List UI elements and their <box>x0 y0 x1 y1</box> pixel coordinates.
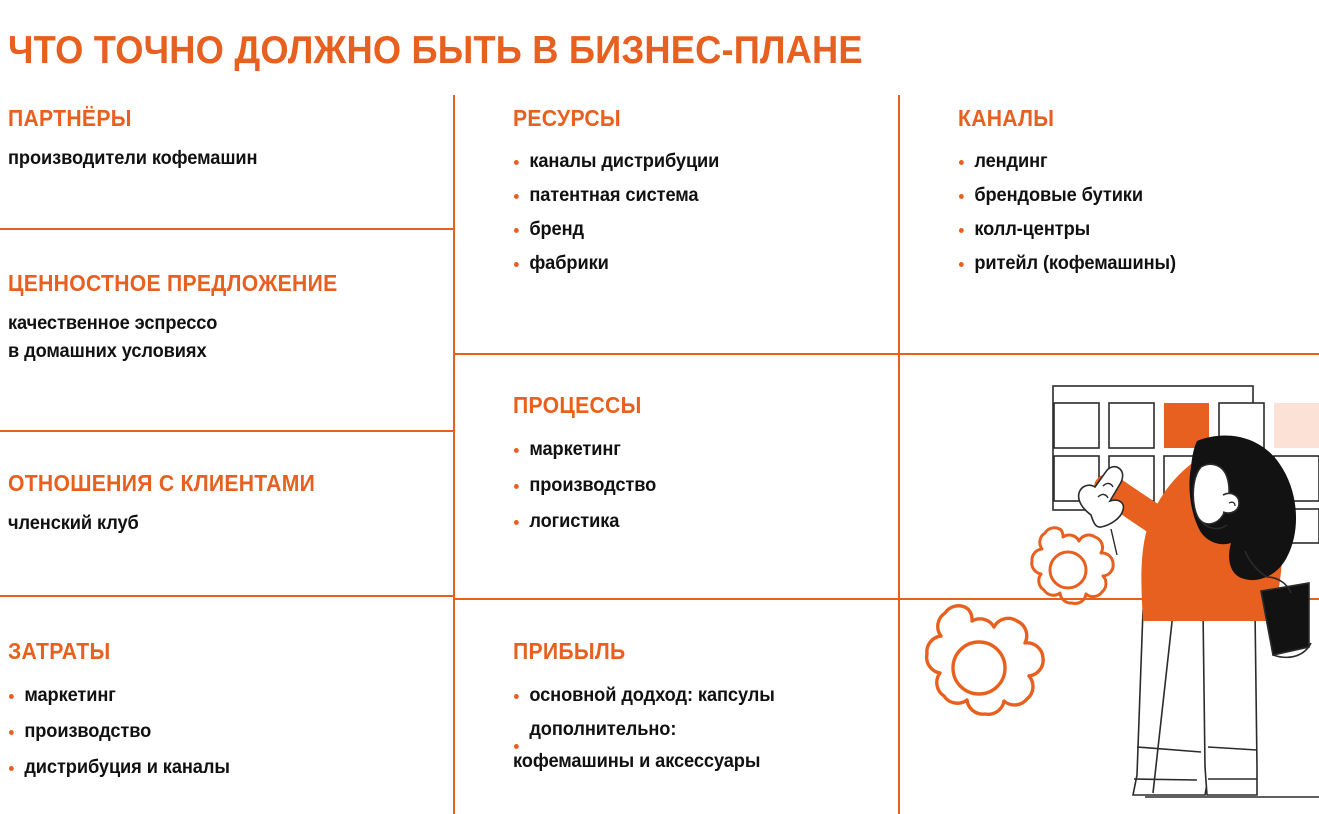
block-value-proposition-text-line2: в домашних условиях <box>8 338 421 366</box>
grid-card <box>1109 403 1154 448</box>
gear-large-icon <box>927 606 1043 715</box>
block-costs-list: маркетинг производство дистрибуция и кан… <box>8 678 438 786</box>
list-item: производство <box>513 468 878 504</box>
illustration-woman-pointing-at-board <box>905 355 1319 814</box>
block-channels-heading: КАНАЛЫ <box>958 105 1280 132</box>
list-item: маркетинг <box>8 678 421 714</box>
gear-small-icon <box>1032 528 1113 604</box>
list-item: дополнительно:кофемашины и аксессуары <box>513 714 878 778</box>
list-item-continuation: кофемашины и аксессуары <box>513 746 878 778</box>
block-processes: ПРОЦЕССЫ маркетинг производство логистик… <box>513 392 893 540</box>
block-resources: РЕСУРСЫ каналы дистрибуции патентная сис… <box>513 105 893 281</box>
block-channels-list: лендинг брендовые бутики колл-центры рит… <box>958 145 1308 281</box>
block-value-proposition-text-line1: качественное эспрессо <box>8 310 421 338</box>
block-costs-heading: ЗАТРАТЫ <box>8 638 404 665</box>
block-revenue-heading: ПРИБЫЛЬ <box>513 638 863 665</box>
block-customer-relations-heading: ОТНОШЕНИЯ С КЛИЕНТАМИ <box>8 470 404 497</box>
block-revenue-list: основной додход: капсулы дополнительно:к… <box>513 678 893 778</box>
block-customer-relations-text: членский клуб <box>8 510 421 538</box>
block-partners: ПАРТНЁРЫ производители кофемашин <box>8 105 438 173</box>
grid-card-highlighted-pink <box>1274 403 1319 448</box>
infographic-canvas: ЧТО ТОЧНО ДОЛЖНО БЫТЬ В БИЗНЕС-ПЛАНЕ ПАР… <box>0 0 1319 814</box>
block-customer-relations: ОТНОШЕНИЯ С КЛИЕНТАМИ членский клуб <box>8 470 438 538</box>
column-divider-left <box>453 95 455 814</box>
page-title: ЧТО ТОЧНО ДОЛЖНО БЫТЬ В БИЗНЕС-ПЛАНЕ <box>8 28 1031 74</box>
column-divider-right <box>898 95 900 814</box>
row-divider-left-2 <box>0 430 454 432</box>
block-value-proposition-heading: ЦЕННОСТНОЕ ПРЕДЛОЖЕНИЕ <box>8 270 404 297</box>
list-item: основной додход: капсулы <box>513 678 878 714</box>
list-item: логистика <box>513 504 878 540</box>
list-item: маркетинг <box>513 432 878 468</box>
list-item: бренд <box>513 213 878 247</box>
block-partners-text: производители кофемашин <box>8 145 421 173</box>
grid-card <box>1054 403 1099 448</box>
figure-leg-right <box>1203 610 1257 795</box>
block-channels: КАНАЛЫ лендинг брендовые бутики колл-цен… <box>958 105 1308 281</box>
bag-body <box>1261 583 1309 655</box>
list-item: ритейл (кофемашины) <box>958 247 1294 281</box>
list-item: производство <box>8 714 421 750</box>
list-item: фабрики <box>513 247 878 281</box>
sleeve-fold <box>1111 529 1117 555</box>
list-item: патентная система <box>513 179 878 213</box>
figure-leg-left <box>1133 610 1211 795</box>
row-divider-left-3 <box>0 595 454 597</box>
list-item: лендинг <box>958 145 1294 179</box>
row-divider-left-1 <box>0 228 454 230</box>
block-value-proposition: ЦЕННОСТНОЕ ПРЕДЛОЖЕНИЕ качественное эспр… <box>8 270 438 366</box>
list-item: брендовые бутики <box>958 179 1294 213</box>
block-resources-list: каналы дистрибуции патентная система бре… <box>513 145 893 281</box>
figure-ear <box>1223 493 1239 513</box>
list-item: каналы дистрибуции <box>513 145 878 179</box>
list-item: дистрибуция и каналы <box>8 750 421 786</box>
block-resources-heading: РЕСУРСЫ <box>513 105 863 132</box>
block-partners-heading: ПАРТНЁРЫ <box>8 105 404 132</box>
trouser-cuff-left <box>1134 779 1197 780</box>
block-processes-list: маркетинг производство логистика <box>513 432 893 540</box>
block-costs: ЗАТРАТЫ маркетинг производство дистрибуц… <box>8 638 438 786</box>
block-processes-heading: ПРОЦЕССЫ <box>513 392 863 419</box>
list-item: колл-центры <box>958 213 1294 247</box>
list-item-primary: дополнительно: <box>529 719 676 740</box>
block-revenue: ПРИБЫЛЬ основной додход: капсулы дополни… <box>513 638 893 778</box>
